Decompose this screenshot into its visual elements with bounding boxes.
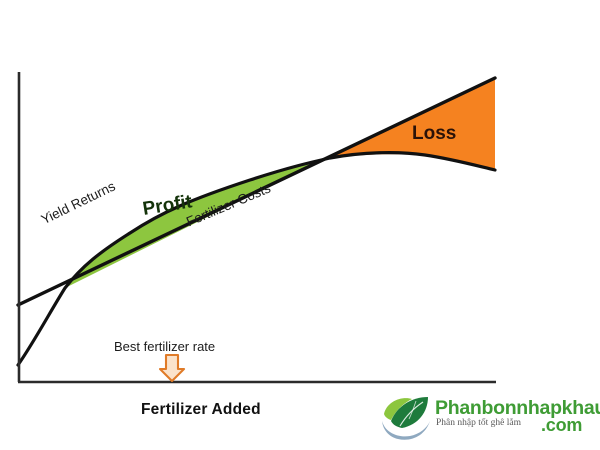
region-label-loss: Loss [412, 123, 456, 145]
chart-plot-svg [0, 0, 600, 450]
watermark-tld: .com [541, 415, 582, 436]
watermark-tagline: Phân nhập tốt ghê lắm [436, 418, 521, 428]
logo-leaf-icon [378, 394, 438, 440]
watermark: Phanbonnhapkhau Phân nhập tốt ghê lắm .c… [378, 392, 596, 444]
annotation-best-fertilizer-rate: Best fertilizer rate [114, 339, 215, 354]
watermark-text: Phanbonnhapkhau Phân nhập tốt ghê lắm .c… [435, 397, 597, 439]
fertilizer-response-chart: Yield Returns Profit Fertilizer Costs Lo… [0, 0, 600, 450]
best-fertilizer-rate-arrow-icon [160, 355, 184, 381]
x-axis-title: Fertilizer Added [141, 401, 261, 419]
